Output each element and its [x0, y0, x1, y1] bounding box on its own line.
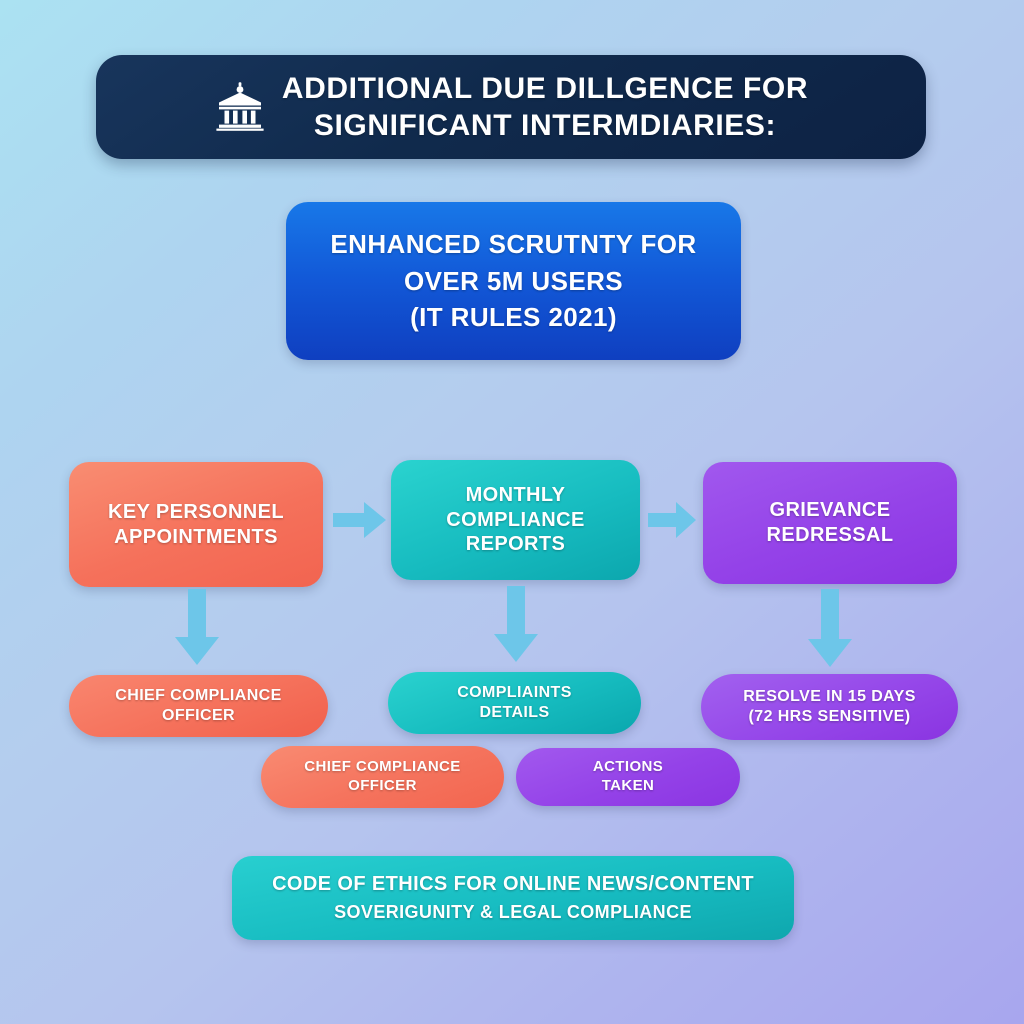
node-label-line-1: CHIEF COMPLIANCE [115, 686, 281, 706]
node-label-line-1: RESOLVE IN 15 DAYS [743, 687, 916, 707]
arrow-monthly-compliance-to-grievance-redressal [648, 500, 697, 540]
header-banner: ADDITIONAL DUE DILLGENCE FOR SIGNIFICANT… [96, 55, 926, 159]
node-label-line-3: REPORTS [466, 532, 565, 557]
node-chief-compliance-officer-2[interactable]: CHIEF COMPLIANCE OFFICER [261, 746, 504, 808]
node-label-line-2: REDRESSAL [767, 523, 894, 548]
node-monthly-compliance-reports[interactable]: MONTHLY COMPLIANCE REPORTS [391, 460, 640, 580]
node-label-line-2: (72 HRS SENSITIVE) [749, 707, 911, 727]
footer-line-2: SOVERIGUNITY & LEGAL COMPLIANCE [334, 901, 692, 923]
header-title-line-1: ADDITIONAL DUE DILLGENCE FOR [282, 70, 808, 107]
footer-line-1: CODE OF ETHICS FOR ONLINE NEWS/CONTENT [272, 872, 754, 897]
node-label-line-1: ACTIONS [593, 758, 663, 777]
arrow-grievance-redressal-down [807, 589, 853, 668]
node-label-line-1: GRIEVANCE [769, 498, 890, 523]
subtitle-line-1: ENHANCED SCRUTNTY FOR [330, 226, 696, 263]
node-key-personnel-appointments[interactable]: KEY PERSONNEL APPOINTMENTS [69, 462, 323, 587]
node-resolve-in-15-days[interactable]: RESOLVE IN 15 DAYS (72 HRS SENSITIVE) [701, 674, 958, 740]
header-title-line-2: SIGNIFICANT INTERMDIARIES: [282, 107, 808, 144]
subtitle-box: ENHANCED SCRUTNTY FOR OVER 5M USERS (IT … [286, 202, 741, 360]
node-label-line-1: COMPLIAINTS [457, 683, 572, 703]
arrow-monthly-compliance-down [493, 586, 539, 663]
node-label-line-1: MONTHLY [466, 483, 566, 508]
header-title: ADDITIONAL DUE DILLGENCE FOR SIGNIFICANT… [282, 70, 808, 144]
node-complaints-details[interactable]: COMPLIAINTS DETAILS [388, 672, 641, 734]
node-label-line-1: CHIEF COMPLIANCE [304, 758, 460, 777]
node-label-line-2: APPOINTMENTS [114, 525, 278, 550]
node-label-line-2: TAKEN [602, 777, 655, 796]
arrow-key-personnel-down [174, 589, 220, 666]
bank-institution-icon [214, 81, 266, 136]
footer-code-of-ethics-banner[interactable]: CODE OF ETHICS FOR ONLINE NEWS/CONTENT S… [232, 856, 794, 940]
node-label-line-2: COMPLIANCE [446, 508, 584, 533]
node-chief-compliance-officer-1[interactable]: CHIEF COMPLIANCE OFFICER [69, 675, 328, 737]
node-label-line-2: DETAILS [479, 703, 549, 723]
node-label-line-2: OFFICER [162, 706, 235, 726]
infographic-canvas: ADDITIONAL DUE DILLGENCE FOR SIGNIFICANT… [0, 0, 1024, 1024]
node-grievance-redressal[interactable]: GRIEVANCE REDRESSAL [703, 462, 957, 584]
node-label-line-1: KEY PERSONNEL [108, 500, 284, 525]
arrow-key-personnel-to-monthly-compliance [333, 500, 387, 540]
node-label-line-2: OFFICER [348, 777, 417, 796]
node-actions-taken[interactable]: ACTIONS TAKEN [516, 748, 740, 806]
subtitle-line-2: OVER 5M USERS [404, 263, 623, 300]
subtitle-line-3: (IT RULES 2021) [410, 299, 617, 336]
